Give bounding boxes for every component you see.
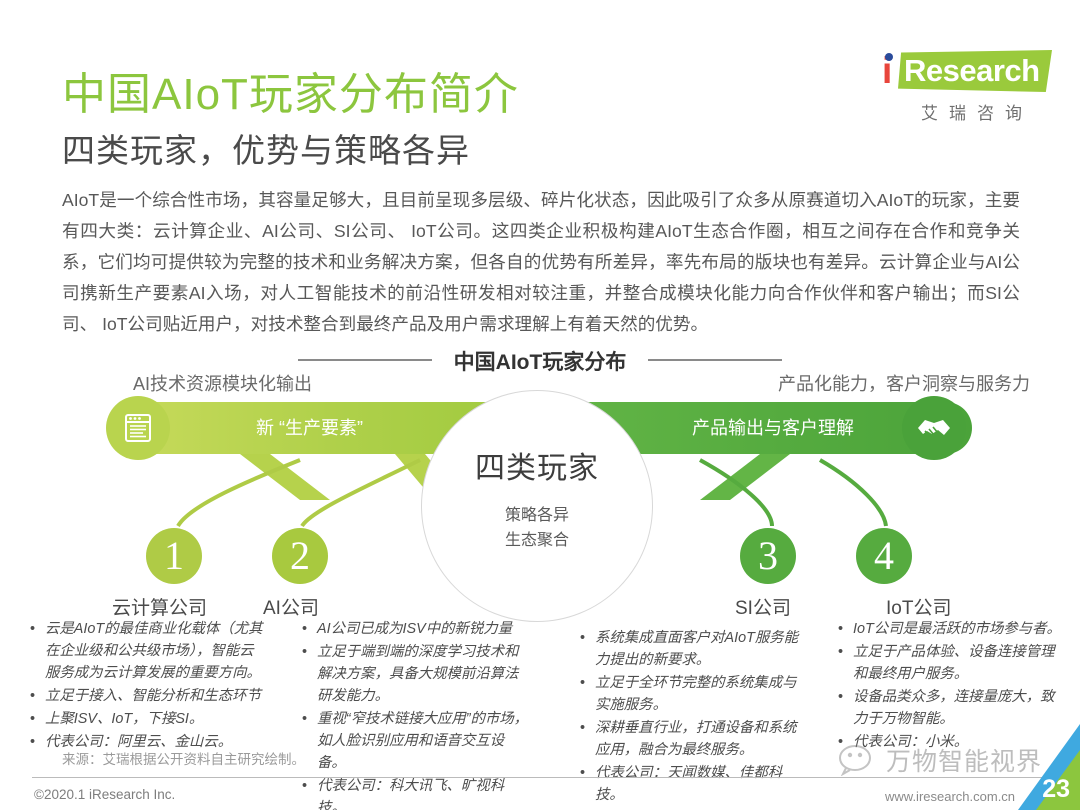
node-label-2: AI公司 xyxy=(263,593,319,620)
page-title: 中国AIoT玩家分布简介 xyxy=(62,58,519,122)
list-item: 代表公司：科大讯飞、旷视科技。 xyxy=(300,775,532,810)
iresearch-logo: i Research 艾瑞咨询 xyxy=(876,48,1056,124)
wechat-watermark: 万物智能视界 xyxy=(838,742,1042,778)
node-number-2: 2 xyxy=(272,528,328,584)
node-number-4: 4 xyxy=(856,528,912,584)
slide-canvas: i Research 艾瑞咨询 中国AIoT玩家分布简介 四类玩家，优势与策略各… xyxy=(0,0,1080,810)
diagram-title: 中国AIoT玩家分布 xyxy=(442,346,639,376)
tail-right-2 xyxy=(700,454,790,500)
logo-dot xyxy=(885,53,893,61)
list-item: 代表公司：天闻数媒、佳都科技。 xyxy=(578,762,808,806)
center-sub-line-1: 策略各异 xyxy=(422,503,652,528)
footer-copyright: ©2020.1 iResearch Inc. xyxy=(34,787,175,802)
page-number: 23 xyxy=(1042,775,1070,804)
column-cloud-company: 云是AIoT的最佳商业化载体（尤其在企业级和公共级市场），智能云服务成为云计算发… xyxy=(28,618,268,754)
list-item: 立足于产品体验、设备连接管理和最终用户服务。 xyxy=(836,641,1068,685)
center-circle: 四类玩家 策略各异 生态聚合 xyxy=(421,390,653,622)
page-subtitle: 四类玩家，优势与策略各异 xyxy=(62,124,470,172)
logo-letter-i: i xyxy=(882,52,891,90)
node-label-4: IoT公司 xyxy=(886,593,951,620)
curve-to-node-4 xyxy=(820,460,886,526)
list-item: 系统集成直面客户对AIoT服务能力提出的新要求。 xyxy=(578,627,808,671)
tail-left-1 xyxy=(240,454,330,500)
list-item: 立足于接入、智能分析和生态环节 xyxy=(28,685,268,707)
node-number-3: 3 xyxy=(740,528,796,584)
logo-chinese-name: 艾瑞咨询 xyxy=(876,99,1056,124)
node-label-3: SI公司 xyxy=(735,593,791,620)
list-item: 上聚ISV、IoT，下接SI。 xyxy=(28,708,268,730)
logo-mark: i Research xyxy=(876,48,1052,94)
column-ai-company: AI公司已成为ISV中的新锐力量 立足于端到端的深度学习技术和解决方案，具备大规… xyxy=(300,618,532,810)
list-item: 重视“窄技术链接大应用”的市场，如人脸识别应用和语音交互设备。 xyxy=(300,708,532,774)
watermark-text: 万物智能视界 xyxy=(886,742,1042,778)
node-label-1: 云计算公司 xyxy=(112,593,207,620)
logo-wordmark: Research xyxy=(904,53,1040,88)
column-si-company: 系统集成直面客户对AIoT服务能力提出的新要求。 立足于全环节完整的系统集成与实… xyxy=(578,627,808,807)
center-sub-line-2: 生态聚合 xyxy=(422,528,652,553)
list-item: 立足于全环节完整的系统集成与实施服务。 xyxy=(578,672,808,716)
list-item: 深耕垂直行业，打通设备和系统应用，融合为最终服务。 xyxy=(578,717,808,761)
aiot-player-diagram: 中国AIoT玩家分布 AI技术资源模块化输出 产品化能力，客户洞察与服务力 新 … xyxy=(0,340,1080,630)
center-subtitle: 策略各异 生态聚合 xyxy=(422,503,652,553)
center-title: 四类玩家 xyxy=(422,443,652,487)
node-number-1: 1 xyxy=(146,528,202,584)
body-paragraph: AIoT是一个综合性市场，其容量足够大，且目前呈现多层级、碎片化状态，因此吸引了… xyxy=(62,185,1020,340)
wechat-icon xyxy=(838,744,880,776)
list-item: 立足于端到端的深度学习技术和解决方案，具备大规模前沿算法研发能力。 xyxy=(300,641,532,707)
source-note: 来源：艾瑞根据公开资料自主研究绘制。 xyxy=(62,748,305,768)
